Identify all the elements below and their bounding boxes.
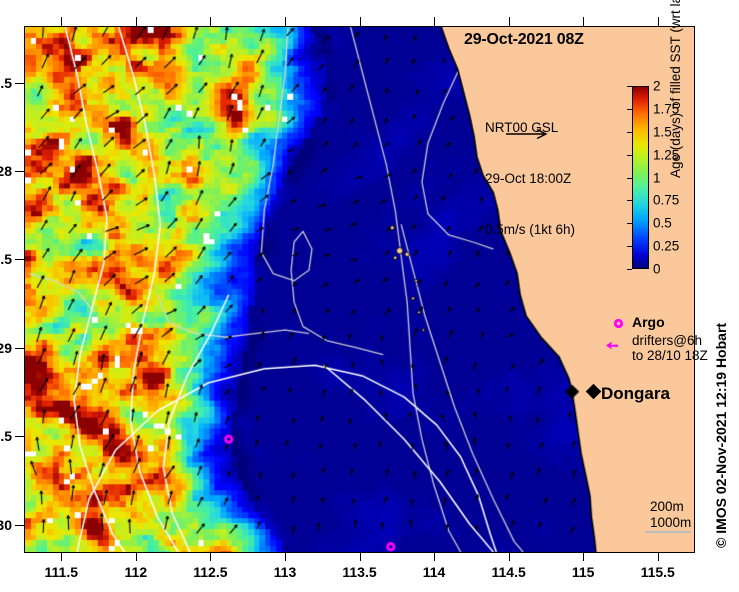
colorbar-title: Age (days) of filled SST (wrt latest)	[668, 0, 683, 178]
y-axis-tick	[15, 83, 24, 84]
y-axis-tick	[15, 259, 24, 260]
y-axis-tick-label: -27.5	[0, 75, 12, 91]
colorbar-tick	[627, 132, 632, 133]
x-axis-tick	[658, 17, 659, 26]
sst-age-heatmap-canvas[interactable]	[25, 27, 694, 552]
legend-argo-label: Argo	[632, 314, 665, 330]
y-axis-tick-label: -30	[0, 517, 12, 533]
x-axis-tick	[136, 553, 137, 561]
colorbar-tick	[627, 246, 632, 247]
depth-contour-1000m-swatch	[645, 531, 691, 533]
colorbar-tick-label: 0.25	[653, 239, 679, 254]
y-axis-tick	[15, 436, 24, 437]
drifter-track-icon	[606, 341, 618, 350]
city-label-dongara: Dongara	[601, 384, 670, 404]
argo-float-icon	[613, 318, 624, 329]
colorbar-tick	[627, 269, 632, 270]
y-axis-tick-label: -28.5	[0, 251, 12, 267]
y-axis-tick	[15, 348, 24, 349]
colorbar-tick-label: 0.75	[653, 193, 679, 208]
x-axis-tick	[434, 553, 435, 561]
copyright-notice: © IMOS 02-Nov-2021 12:19 Hobart	[713, 323, 729, 548]
x-axis-tick	[285, 17, 286, 26]
x-axis-tick	[360, 553, 361, 561]
x-axis-tick	[210, 17, 211, 26]
depth-contour-200m-label: 200m	[650, 499, 684, 514]
y-axis-tick	[15, 171, 24, 172]
map-plot-area[interactable]	[24, 26, 695, 553]
colorbar-tick	[627, 109, 632, 110]
y-axis-tick-label: -28	[0, 163, 12, 179]
x-axis-tick-label: 112.5	[193, 564, 227, 580]
x-axis-tick-label: 112	[125, 564, 148, 580]
right-arrow-icon	[506, 128, 550, 140]
colorbar-tick-label: 0.5	[653, 216, 672, 231]
x-axis-tick-label: 115.5	[641, 564, 675, 580]
x-axis-tick-label: 114.5	[491, 564, 525, 580]
x-axis-tick	[509, 553, 510, 561]
colorbar[interactable]: 00.250.50.7511.251.51.752	[632, 86, 649, 269]
x-axis-tick	[61, 17, 62, 26]
depth-contour-1000m-label: 1000m	[650, 515, 691, 530]
x-axis-tick	[210, 553, 211, 561]
legend-drifters-line1: drifters@6h	[632, 333, 702, 348]
x-axis-tick-label: 111.5	[45, 564, 79, 580]
x-axis-tick-label: 115	[572, 564, 595, 580]
x-axis-tick-label: 114	[423, 564, 446, 580]
x-axis-tick-label: 113	[274, 564, 297, 580]
y-axis-tick-label: -29.5	[0, 428, 12, 444]
colorbar-tick	[627, 178, 632, 179]
colorbar-tick	[627, 223, 632, 224]
colorbar-tick-label: 2	[653, 79, 661, 94]
colorbar-tick-label: 0	[653, 262, 661, 277]
y-axis-tick	[15, 525, 24, 526]
x-axis-tick	[583, 17, 584, 26]
sst-age-map-figure: 29-Oct-2021 08Z NRT00 GSL 29-Oct 18:00Z …	[0, 0, 739, 592]
colorbar-tick-label: 1	[653, 170, 661, 185]
x-axis-tick	[136, 17, 137, 26]
x-axis-tick-label: 113.5	[342, 564, 376, 580]
y-axis-tick-label: -29	[0, 340, 12, 356]
x-axis-tick	[583, 553, 584, 561]
colorbar-tick	[627, 200, 632, 201]
x-axis-tick	[61, 553, 62, 561]
colorbar-tick	[627, 86, 632, 87]
x-axis-tick	[360, 17, 361, 26]
x-axis-tick	[434, 17, 435, 26]
colorbar-tick	[627, 155, 632, 156]
x-axis-tick	[509, 17, 510, 26]
x-axis-tick	[658, 553, 659, 561]
colorbar-gradient	[632, 86, 649, 269]
legend-drifters-line2: to 28/10 18Z	[632, 348, 708, 363]
x-axis-tick	[285, 553, 286, 561]
